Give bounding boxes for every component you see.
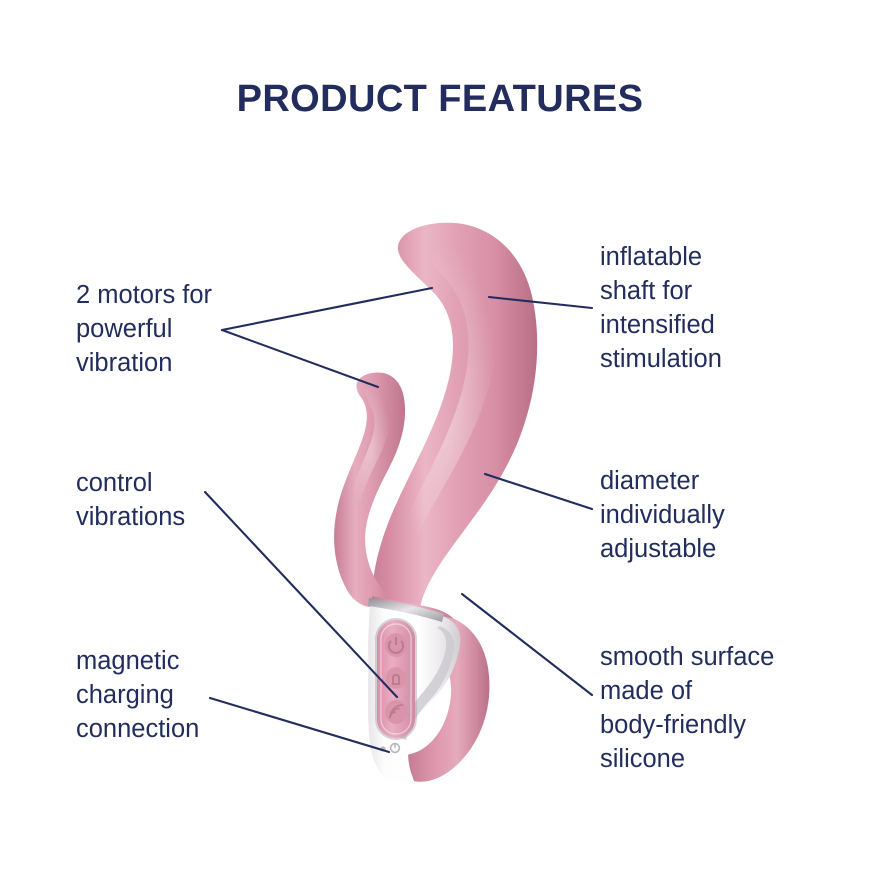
line-inflatable-shaft [489, 297, 592, 308]
callout-two-motors: 2 motors for powerful vibration [76, 278, 291, 380]
line-smooth-surface [462, 594, 592, 695]
callout-smooth-surface: smooth surface made of body-friendly sil… [600, 640, 855, 776]
product-features-infographic: PRODUCT FEATURES 2 motors for powerful v… [0, 0, 880, 880]
callout-inflatable-shaft: inflatable shaft for intensified stimula… [600, 240, 850, 376]
line-diameter-adjustable [485, 474, 592, 509]
callout-magnetic-charging: magnetic charging connection [76, 644, 301, 746]
callout-diameter-adjustable: diameter individually adjustable [600, 464, 850, 566]
callout-control-vibrations: control vibrations [76, 466, 291, 534]
